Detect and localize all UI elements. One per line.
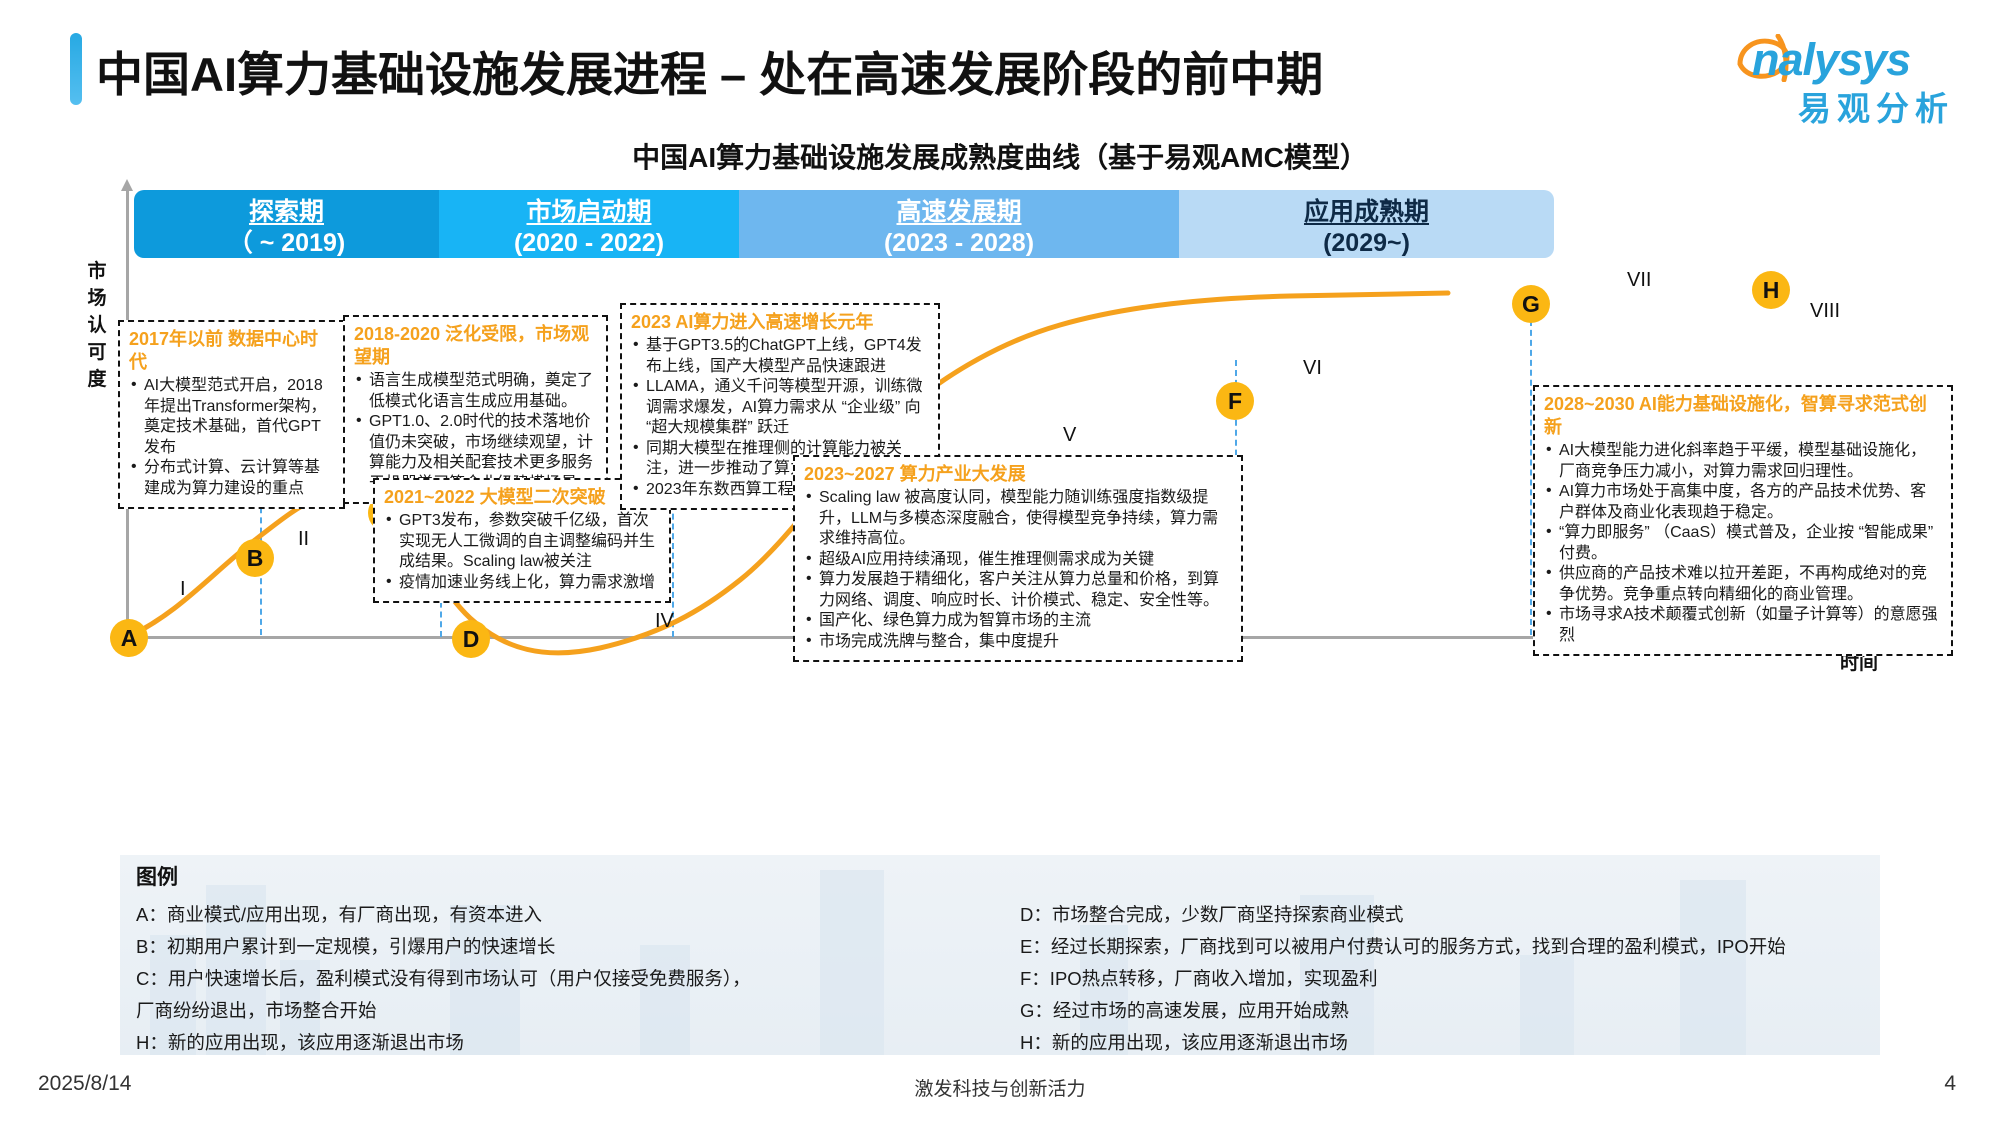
phase-years: (2023 - 2028) [739, 228, 1179, 259]
legend-column-right: D：市场整合完成，少数厂商坚持探索商业模式 E：经过长期探索，厂商找到可以被用户… [1020, 899, 1880, 1059]
callout-item: 分布式计算、云计算等基建成为算力建设的重点 [129, 458, 334, 499]
legend-panel: 图例 A：商业模式/应用出现，有厂商出现，有资本进入 B：初期用户累计到一定规模… [120, 855, 1880, 1055]
callout-2028-2030: 2028~2030 AI能力基础设施化，智算寻求范式创新 AI大模型能力进化斜率… [1533, 385, 1953, 656]
roman-vi: VI [1303, 357, 1322, 380]
callout-item: 国产化、绿色算力成为智算市场的主流 [804, 611, 1232, 632]
callout-heading: 2021~2022 大模型二次突破 [384, 486, 660, 509]
callout-item: 基于GPT3.5的ChatGPT上线，GPT4发布上线，国产大模型产品快速跟进 [631, 336, 929, 377]
node-a[interactable]: A [110, 619, 148, 657]
footer-slogan: 激发科技与创新活力 [0, 1074, 2000, 1101]
phase-bar-exploration[interactable]: 探索期 （ ~ 2019) [134, 190, 439, 258]
legend-item: H：新的应用出现，该应用逐渐退出市场 [1020, 1027, 1880, 1059]
phase-name: 市场启动期 [439, 197, 739, 228]
callout-list: 语言生成模型范式明确，奠定了低模式化语言生成应用基础。 GPT1.0、2.0时代… [354, 371, 597, 494]
callout-list: AI大模型能力进化斜率趋于平缓，模型基础设施化，厂商竞争压力减小，对算力需求回归… [1544, 441, 1942, 646]
chart-title: 中国AI算力基础设施发展成熟度曲线（基于易观AMC模型） [0, 136, 2000, 176]
callout-item: 超级AI应用持续涌现，催生推理侧需求成为关键 [804, 550, 1232, 571]
callout-item: 疫情加速业务线上化，算力需求激增 [384, 573, 660, 594]
node-g[interactable]: G [1512, 285, 1550, 323]
legend-item: E：经过长期探索，厂商找到可以被用户付费认可的服务方式，找到合理的盈利模式，IP… [1020, 931, 1880, 963]
logo-wordmark: nalysys [1752, 34, 1910, 86]
phase-name: 应用成熟期 [1179, 197, 1554, 228]
callout-item: 供应商的产品技术难以拉开差距，不再构成绝对的竞争优势。竞争重点转向精细化的商业管… [1544, 564, 1942, 605]
phase-name: 探索期 [134, 197, 439, 228]
analysys-logo: nalysys 易观分析 [1682, 30, 1962, 122]
callout-item: AI大模型范式开启，2018年提出Transformer架构，奠定技术基础，首代… [129, 376, 334, 458]
node-b[interactable]: B [236, 539, 274, 577]
callout-list: Scaling law 被高度认同，模型能力随训练强度指数级提升，LLM与多模态… [804, 488, 1232, 652]
callout-item: AI大模型能力进化斜率趋于平缓，模型基础设施化，厂商竞争压力减小，对算力需求回归… [1544, 441, 1942, 482]
legend-column-left: A：商业模式/应用出现，有厂商出现，有资本进入 B：初期用户累计到一定规模，引爆… [136, 899, 956, 1059]
callout-2018-2020: 2018-2020 泛化受限，市场观望期 语言生成模型范式明确，奠定了低模式化语… [343, 315, 608, 504]
roman-viii: VIII [1810, 300, 1840, 323]
callout-item: 算力发展趋于精细化，客户关注从算力总量和价格，到算力网络、调度、响应时长、计价模… [804, 570, 1232, 611]
page-title: 中国AI算力基础设施发展进程 – 处在高速发展阶段的前中期 [96, 36, 1323, 105]
phase-years: （ ~ 2019) [134, 228, 439, 259]
callout-item: 市场完成洗牌与整合，集中度提升 [804, 632, 1232, 653]
legend-item: H：新的应用出现，该应用逐渐退出市场 [136, 1027, 956, 1059]
callout-heading: 2023~2027 算力产业大发展 [804, 463, 1232, 486]
callout-item: LLAMA，通义千问等模型开源，训练微调需求爆发，AI算力需求从 “企业级” 向… [631, 377, 929, 439]
legend-item: D：市场整合完成，少数厂商坚持探索商业模式 [1020, 899, 1880, 931]
phase-bar-application-mature[interactable]: 应用成熟期 (2029~) [1179, 190, 1554, 258]
node-d[interactable]: D [452, 620, 490, 658]
legend-item: C：用户快速增长后，盈利模式没有得到市场认可（用户仅接受免费服务）， [136, 963, 956, 995]
legend-item: A：商业模式/应用出现，有厂商出现，有资本进入 [136, 899, 956, 931]
legend-item: G：经过市场的高速发展，应用开始成熟 [1020, 995, 1880, 1027]
callout-2017: 2017年以前 数据中心时代 AI大模型范式开启，2018年提出Transfor… [118, 320, 345, 509]
phase-years: (2020 - 2022) [439, 228, 739, 259]
connector-g [1530, 300, 1532, 635]
legend-item: B：初期用户累计到一定规模，引爆用户的快速增长 [136, 931, 956, 963]
callout-item: Scaling law 被高度认同，模型能力随训练强度指数级提升，LLM与多模态… [804, 488, 1232, 550]
callout-2023-2027: 2023~2027 算力产业大发展 Scaling law 被高度认同，模型能力… [793, 455, 1243, 662]
callout-heading: 2017年以前 数据中心时代 [129, 328, 334, 374]
roman-i: I [180, 578, 186, 601]
phase-bar-market-launch[interactable]: 市场启动期 (2020 - 2022) [439, 190, 739, 258]
callout-item: “算力即服务” （CaaS）模式普及，企业按 “智能成果” 付费。 [1544, 523, 1942, 564]
roman-ii: II [298, 528, 309, 551]
y-axis-label: 市场认可度 [82, 258, 112, 393]
logo-chinese: 易观分析 [1798, 82, 1954, 130]
node-h[interactable]: H [1752, 271, 1790, 309]
legend-item: F：IPO热点转移，厂商收入增加，实现盈利 [1020, 963, 1880, 995]
callout-heading: 2028~2030 AI能力基础设施化，智算寻求范式创新 [1544, 393, 1942, 439]
callout-item: AI算力市场处于高集中度，各方的产品技术优势、客户群体及商业化表现趋于稳定。 [1544, 482, 1942, 523]
legend-item: 厂商纷纷退出，市场整合开始 [136, 995, 956, 1027]
node-f[interactable]: F [1216, 382, 1254, 420]
callout-item: GPT3发布，参数突破千亿级，首次实现无人工微调的自主调整编码并生成结果。Sca… [384, 511, 660, 573]
callout-heading: 2018-2020 泛化受限，市场观望期 [354, 323, 597, 369]
slide-root: 中国AI算力基础设施发展进程 – 处在高速发展阶段的前中期 nalysys 易观… [0, 0, 2000, 1125]
phase-years: (2029~) [1179, 228, 1554, 259]
callout-item: 语言生成模型范式明确，奠定了低模式化语言生成应用基础。 [354, 371, 597, 412]
legend-title: 图例 [136, 861, 178, 891]
roman-v: V [1063, 424, 1076, 447]
roman-vii: VII [1627, 269, 1651, 292]
title-accent-bar [70, 33, 82, 105]
callout-item: 市场寻求A技术颠覆式创新（如量子计算等）的意愿强烈 [1544, 605, 1942, 646]
callout-heading: 2023 AI算力进入高速增长元年 [631, 311, 929, 334]
phase-name: 高速发展期 [739, 197, 1179, 228]
roman-iv: IV [655, 610, 674, 633]
callout-list: AI大模型范式开启，2018年提出Transformer架构，奠定技术基础，首代… [129, 376, 334, 499]
phase-bar-high-growth[interactable]: 高速发展期 (2023 - 2028) [739, 190, 1179, 258]
footer-page-number: 4 [1944, 1072, 1956, 1096]
callout-list: GPT3发布，参数突破千亿级，首次实现无人工微调的自主调整编码并生成结果。Sca… [384, 511, 660, 593]
